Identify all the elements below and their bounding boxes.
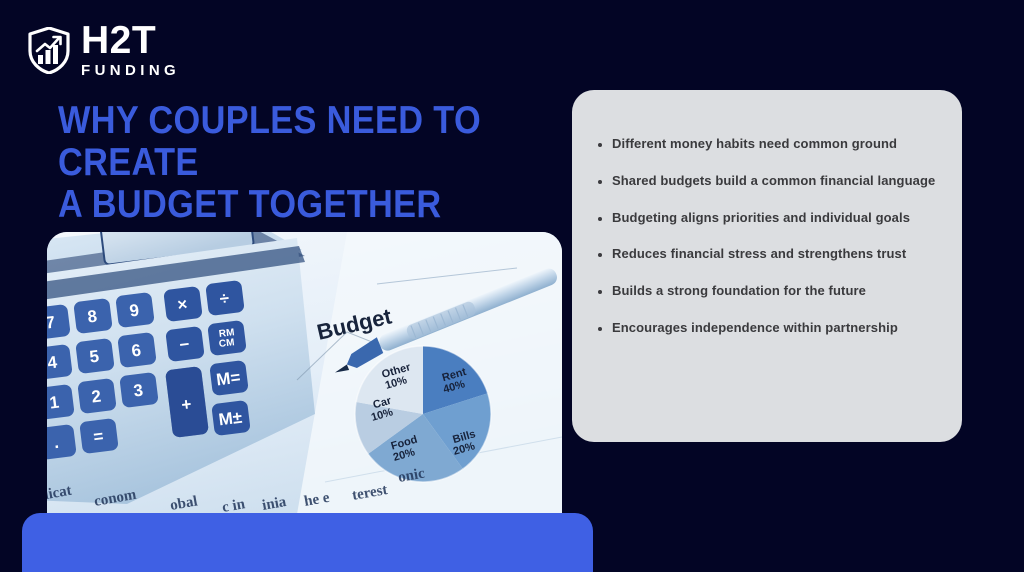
bullet-dot-icon — [598, 143, 602, 147]
benefits-list: Different money habits need common groun… — [598, 136, 936, 336]
budget-photo-illustration: 7 8 9 × ÷ 4 5 6 − 1 2 3 + . = M= M± RM C… — [47, 232, 562, 514]
list-item-label: Encourages independence within partnersh… — [612, 320, 898, 336]
bullet-dot-icon — [598, 253, 602, 257]
list-item-label: Budgeting aligns priorities and individu… — [612, 210, 910, 226]
shield-growth-chart-icon — [28, 27, 70, 74]
list-item: Builds a strong foundation for the futur… — [598, 283, 936, 299]
list-item: Reduces financial stress and strengthens… — [598, 246, 936, 262]
bullet-dot-icon — [598, 217, 602, 221]
svg-text:c in: c in — [221, 496, 247, 514]
list-item-label: Shared budgets build a common financial … — [612, 173, 935, 189]
list-item-label: Reduces financial stress and strengthens… — [612, 246, 906, 262]
svg-text:M±: M± — [218, 408, 244, 430]
budget-photo: 7 8 9 × ÷ 4 5 6 − 1 2 3 + . = M= M± RM C… — [47, 232, 562, 514]
benefits-card: Different money habits need common groun… — [572, 90, 962, 442]
bottom-accent-bar — [22, 513, 593, 572]
bullet-dot-icon — [598, 180, 602, 184]
svg-text:CM: CM — [218, 337, 235, 350]
bullet-dot-icon — [598, 327, 602, 331]
list-item: Different money habits need common groun… — [598, 136, 936, 152]
brand-logo: H2T FUNDING — [28, 22, 180, 78]
brand-wordmark: H2T FUNDING — [81, 22, 180, 78]
bullet-dot-icon — [598, 290, 602, 294]
list-item: Budgeting aligns priorities and individu… — [598, 210, 936, 226]
list-item: Encourages independence within partnersh… — [598, 320, 936, 336]
list-item: Shared budgets build a common financial … — [598, 173, 936, 189]
page-title: Why couples need to create a budget toge… — [58, 100, 516, 226]
brand-name-primary: H2T — [81, 22, 180, 59]
list-item-label: Builds a strong foundation for the futur… — [612, 283, 866, 299]
brand-name-secondary: FUNDING — [81, 63, 180, 78]
svg-text:M=: M= — [215, 368, 241, 390]
list-item-label: Different money habits need common groun… — [612, 136, 897, 152]
